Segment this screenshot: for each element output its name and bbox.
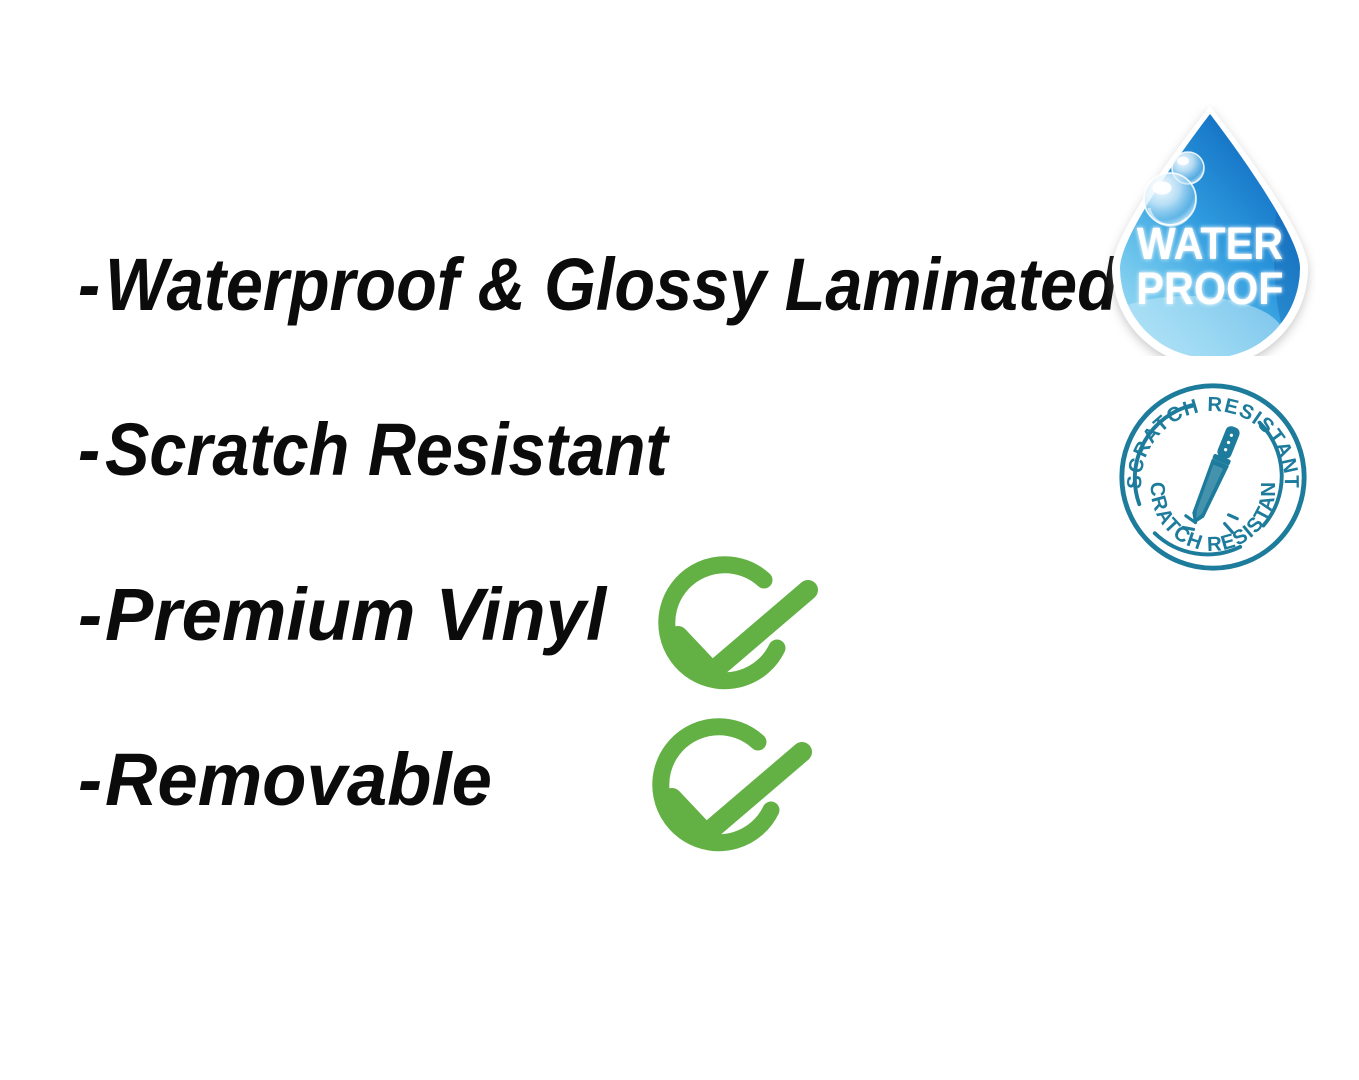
feature-item-premium-vinyl: - Premium Vinyl <box>78 578 1108 743</box>
feature-bullet-dash: - <box>78 743 100 817</box>
feature-label: Scratch Resistant <box>105 413 668 487</box>
feature-label: Removable <box>105 743 492 817</box>
feature-bullet-dash: - <box>78 578 100 652</box>
waterproof-line1: WATER <box>1137 219 1283 269</box>
knife-icon <box>1187 424 1243 528</box>
feature-item-waterproof: - Waterproof & Glossy Laminated <box>78 248 1108 413</box>
waterproof-line2: PROOF <box>1136 264 1283 314</box>
feature-bullet-dash: - <box>78 248 98 322</box>
scratch-resistant-seal-badge: SCRATCH RESISTANT SCRATCH RESISTANT <box>1114 380 1312 574</box>
check-mark-removable <box>630 718 826 884</box>
check-stroke <box>672 752 802 834</box>
check-stroke <box>678 590 808 672</box>
water-bubble-large <box>1144 173 1196 225</box>
feature-label: Waterproof & Glossy Laminated <box>105 248 1118 322</box>
feature-item-removable: - Removable <box>78 743 1108 908</box>
feature-list: - Waterproof & Glossy Laminated - Scratc… <box>78 248 1108 908</box>
feature-bullet-dash: - <box>78 413 98 487</box>
feature-item-scratch-resistant: - Scratch Resistant <box>78 413 1108 578</box>
infographic-canvas: - Waterproof & Glossy Laminated - Scratc… <box>0 0 1359 1080</box>
waterproof-droplet-badge: WATER PROOF <box>1104 104 1316 356</box>
droplet-text-group: WATER PROOF <box>1136 219 1283 314</box>
impact-lines-icon <box>1183 515 1237 532</box>
check-mark-premium-vinyl <box>636 556 832 722</box>
feature-label: Premium Vinyl <box>105 578 606 652</box>
